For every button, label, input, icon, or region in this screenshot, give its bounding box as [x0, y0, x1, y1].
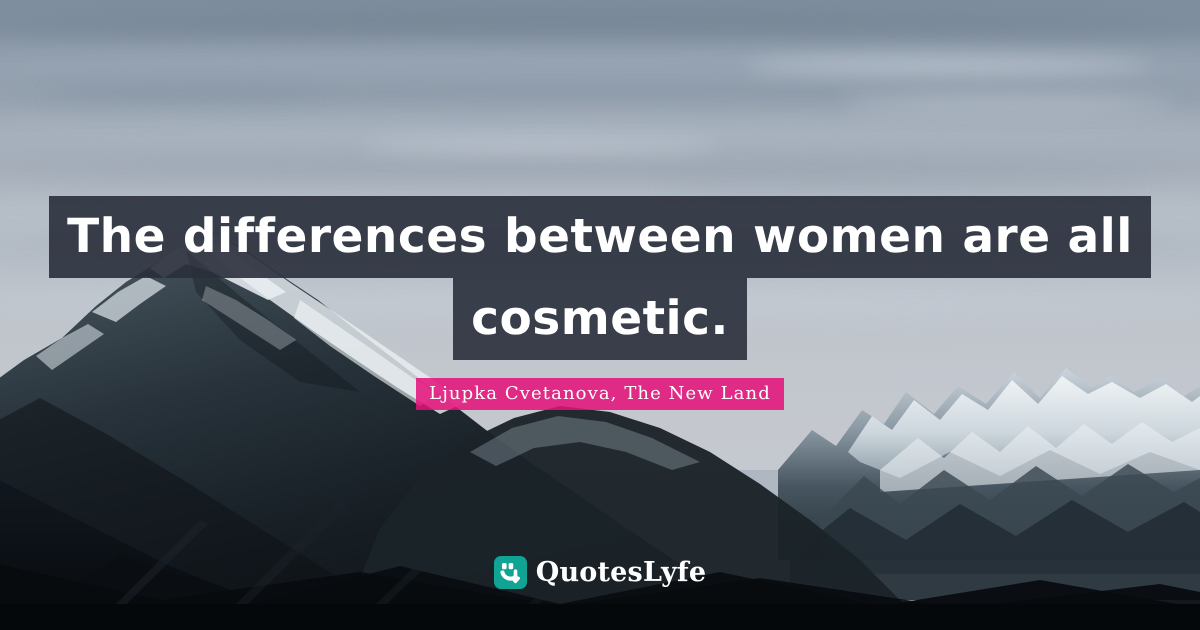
brand-logo[interactable]: QuotesLyfe — [0, 556, 1200, 589]
quote-line-2: cosmetic. — [453, 278, 747, 360]
foreground-plain — [0, 604, 1200, 630]
quote-line-1: The differences between women are all — [49, 196, 1151, 278]
brand-name: QuotesLyfe — [536, 559, 707, 586]
quote-card: The differences between women are all co… — [0, 0, 1200, 630]
attribution-text: Ljupka Cvetanova, The New Land — [416, 378, 784, 410]
attribution-block: Ljupka Cvetanova, The New Land — [0, 378, 1200, 410]
quote-block: The differences between women are all co… — [0, 196, 1200, 360]
quote-smiley-icon — [494, 556, 527, 589]
